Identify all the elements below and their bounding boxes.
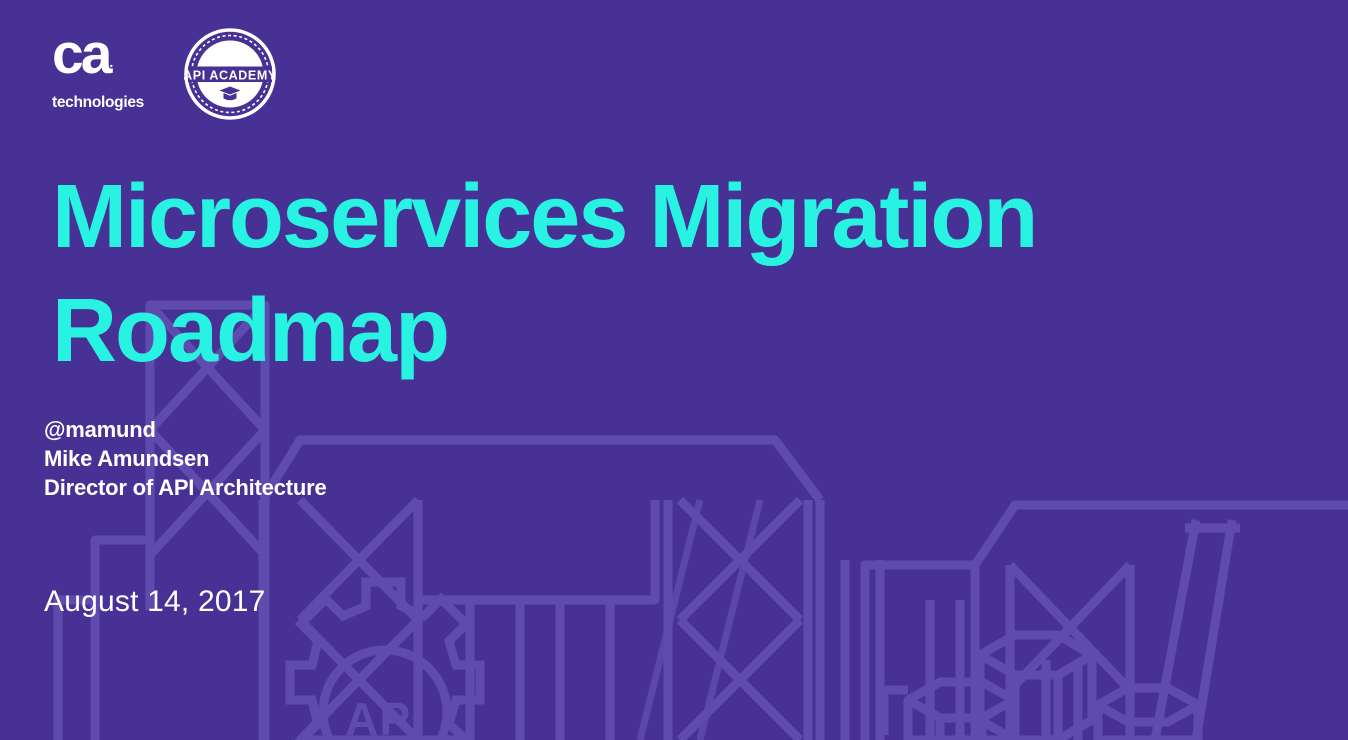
presenter-role: Director of API Architecture [44,473,327,502]
title-line-1: Microservices Migration [52,160,1302,274]
presentation-date: August 14, 2017 [44,585,266,619]
presenter-handle: @mamund [44,415,327,444]
registered-mark: . [109,54,113,70]
ca-technologies-logo: ca. technologies [52,26,162,112]
api-academy-badge: API ACADEMY [184,28,276,120]
page-title: Microservices Migration Roadmap [52,160,1302,388]
api-academy-seal-icon: API ACADEMY [184,28,276,120]
logo-bar: ca. technologies API ACADEMY [52,26,276,120]
presenter-name: Mike Amundsen [44,444,327,473]
ca-subtext: technologies [52,94,162,112]
title-slide: API ca. technologies API ACADEMY [0,0,1348,740]
ca-wordmark: ca. [52,28,162,88]
presenter-block: @mamund Mike Amundsen Director of API Ar… [44,415,327,502]
api-academy-label: API ACADEMY [184,69,276,83]
title-line-2: Roadmap [52,274,1302,388]
gear-api-label: API [345,693,425,740]
